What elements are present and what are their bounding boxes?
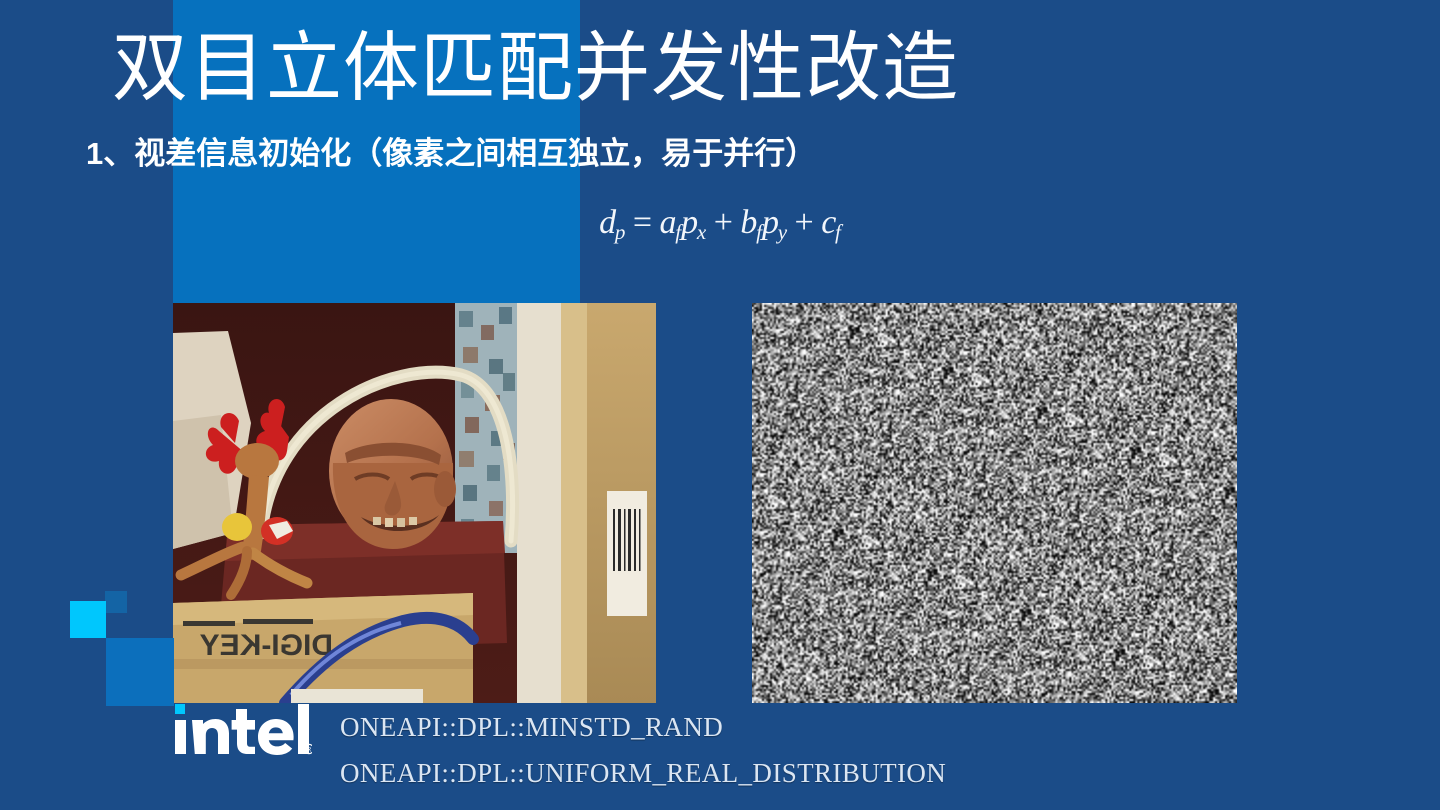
- api-caption-minstd-rand: ONEAPI::DPL::MINSTD_RAND: [340, 711, 723, 743]
- decorative-square-large: [106, 638, 174, 706]
- svg-text:R: R: [307, 748, 312, 754]
- decorative-square-cyan: [70, 601, 106, 638]
- formula-term1-coef: b: [740, 204, 757, 241]
- random-disparity-noise-canvas: [752, 303, 1237, 703]
- formula-lhs-sub: p: [615, 220, 626, 244]
- formula-plus-1: +: [714, 204, 733, 241]
- formula-equals: =: [633, 204, 652, 241]
- presentation-slide: 双目立体匹配并发性改造 1、视差信息初始化（像素之间相互独立，易于并行） dp=…: [0, 0, 1440, 810]
- formula-term0-coef: a: [660, 204, 677, 241]
- random-disparity-noise: [752, 303, 1237, 703]
- stereo-reference-photo: DIGI-KEY: [173, 303, 656, 703]
- slide-subtitle: 1、视差信息初始化（像素之间相互独立，易于并行）: [86, 134, 1286, 174]
- page-title: 双目立体匹配并发性改造: [112, 26, 1212, 112]
- formula-lhs-var: d: [599, 204, 616, 241]
- formula-plus-2: +: [795, 204, 814, 241]
- formula-term0-var: p: [681, 204, 698, 241]
- formula-term0-var-sub: x: [697, 220, 706, 244]
- stereo-reference-photo-graphic: DIGI-KEY: [173, 303, 656, 703]
- svg-text:DIGI-KEY: DIGI-KEY: [200, 629, 333, 662]
- formula-term1-var-sub: y: [778, 220, 787, 244]
- formula-constant-sub: f: [835, 220, 841, 244]
- disparity-formula: dp=afpx+bfpy+cf: [0, 200, 1440, 255]
- api-caption-uniform-real-distribution: ONEAPI::DPL::UNIFORM_REAL_DISTRIBUTION: [340, 757, 946, 789]
- intel-logo: R: [172, 704, 312, 756]
- decorative-square-small: [105, 591, 127, 613]
- intel-logo-graphic: R: [172, 704, 312, 756]
- formula-term1-var: p: [762, 204, 779, 241]
